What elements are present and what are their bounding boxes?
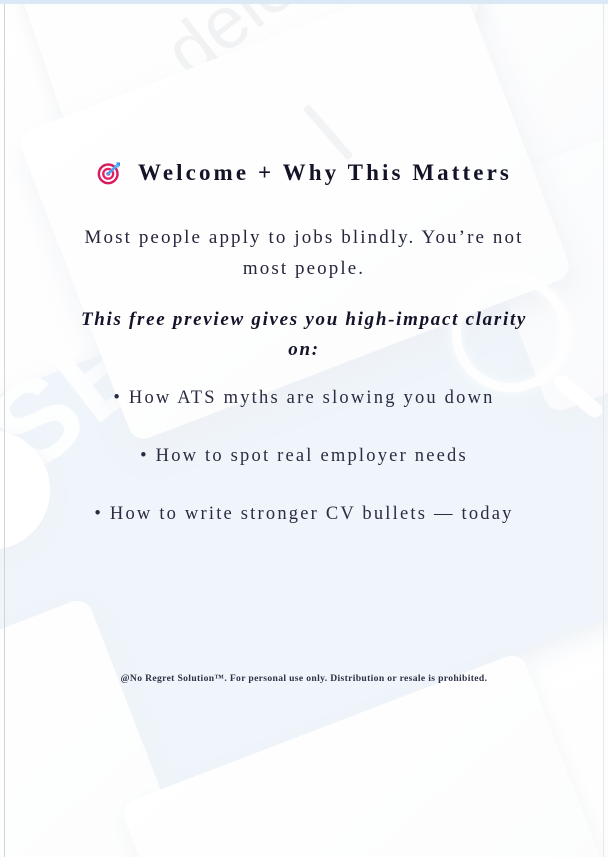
bullet-label: How to write stronger CV bullets — today	[110, 504, 514, 524]
dart-target-icon	[96, 160, 122, 186]
lead-in-text: This free preview gives you high-impact …	[62, 305, 546, 365]
page-content: Welcome + Why This Matters Most people a…	[0, 0, 608, 857]
bullet-marker: •	[94, 504, 103, 524]
bullet-marker: •	[113, 388, 122, 408]
bullet-label: How to spot real employer needs	[156, 446, 468, 466]
bullet-list: • How ATS myths are slowing you down • H…	[30, 388, 578, 562]
list-item: • How ATS myths are slowing you down	[30, 388, 578, 409]
page-heading: Welcome + Why This Matters	[0, 160, 608, 186]
subtitle-text: Most people apply to jobs blindly. You’r…	[60, 222, 548, 284]
bullet-label: How ATS myths are slowing you down	[129, 388, 495, 408]
page-title: Welcome + Why This Matters	[138, 160, 512, 186]
list-item: • How to write stronger CV bullets — tod…	[30, 504, 578, 525]
list-item: • How to spot real employer needs	[30, 446, 578, 467]
bullet-marker: •	[140, 446, 149, 466]
footer-notice: @No Regret Solution™. For personal use o…	[0, 673, 608, 684]
preview-page: SEARCH dele	[0, 0, 608, 857]
